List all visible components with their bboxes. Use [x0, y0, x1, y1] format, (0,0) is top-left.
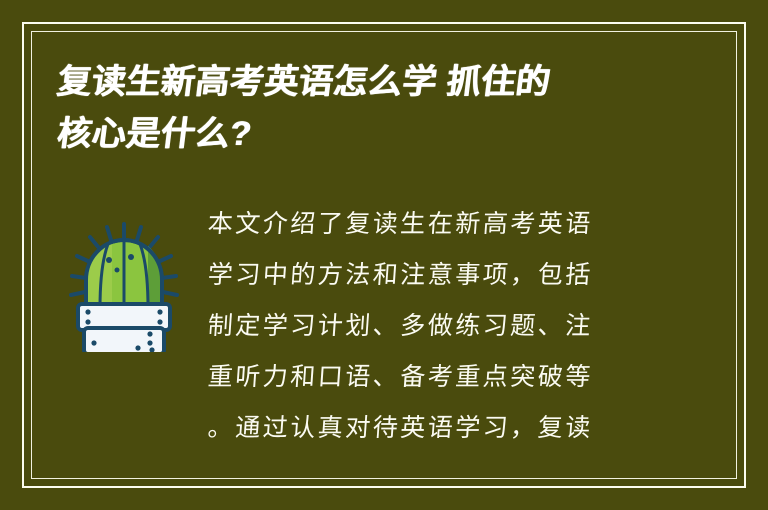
body-line-3: 制定学习计划、多做练习题、注 — [206, 300, 718, 351]
body-line-1: 本文介绍了复读生在新高考英语 — [206, 198, 718, 249]
body-line-4: 重听力和口语、备考重点突破等 — [206, 351, 718, 402]
title-line-1: 复读生新高考英语怎么学 抓住的 — [54, 56, 720, 108]
body-text: 本文介绍了复读生在新高考英语 学习中的方法和注意事项，包括 制定学习计划、多做练… — [194, 198, 714, 453]
body-line-2: 学习中的方法和注意事项，包括 — [206, 249, 718, 300]
title-line-2: 核心是什么? — [54, 108, 720, 160]
body-line-5: 。通过认真对待英语学习，复读 — [206, 402, 718, 453]
poster-canvas: 复读生新高考英语怎么学 抓住的 核心是什么? — [0, 0, 768, 510]
cactus-icon — [64, 212, 184, 352]
illustration-container — [54, 198, 194, 352]
page-title: 复读生新高考英语怎么学 抓住的 核心是什么? — [54, 56, 714, 160]
content-row: 本文介绍了复读生在新高考英语 学习中的方法和注意事项，包括 制定学习计划、多做练… — [54, 198, 714, 453]
